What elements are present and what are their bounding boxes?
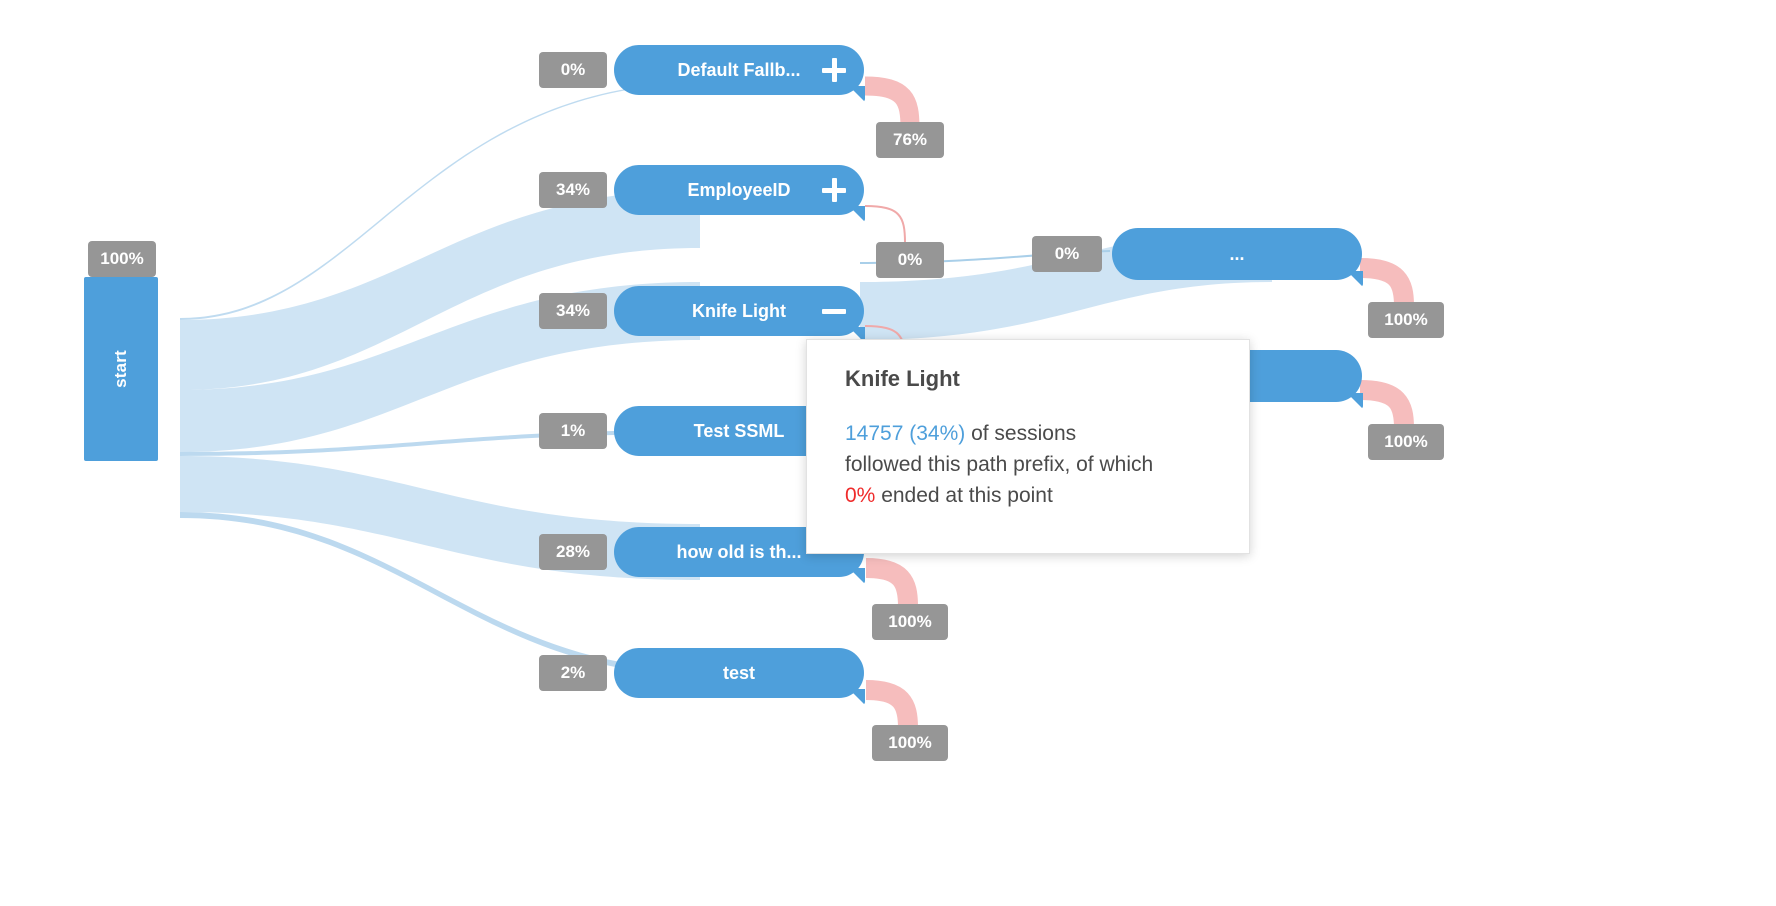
badge-test-dropoff: 100% xyxy=(872,725,948,761)
badge-start-percent: 100% xyxy=(88,241,156,277)
expand-plus-icon[interactable] xyxy=(822,178,846,202)
tooltip-session-count: 14757 (34%) xyxy=(845,422,965,445)
node-tooltip: Knife Light 14757 (34%) of sessions foll… xyxy=(806,339,1250,554)
dropoff-employeeid xyxy=(865,206,905,243)
badge-employeeid-dropoff: 0% xyxy=(876,242,944,278)
start-node-label: start xyxy=(111,350,131,388)
path-flow-canvas: start 100% Default Fallb... 0% 76% Emplo… xyxy=(0,0,1776,906)
dropoff-test xyxy=(866,690,908,728)
badge-how-old-dropoff: 100% xyxy=(872,604,948,640)
tooltip-line1-rest: of sessions xyxy=(965,422,1076,445)
badge-default-fallback-percent: 0% xyxy=(539,52,607,88)
tooltip-end-percent: 0% xyxy=(845,484,875,507)
tooltip-line3-rest: ended at this point xyxy=(875,484,1052,507)
node-more-label: ... xyxy=(1130,244,1344,265)
node-default-fallback[interactable]: Default Fallb... xyxy=(614,45,864,95)
node-default-fallback-label: Default Fallb... xyxy=(632,60,846,81)
node-employeeid-label: EmployeeID xyxy=(632,180,846,201)
dropoff-right-node-2 xyxy=(1360,390,1404,428)
node-knife-light-label: Knife Light xyxy=(632,301,846,322)
badge-knife-light-percent: 34% xyxy=(539,293,607,329)
dropoff-more xyxy=(1360,268,1404,306)
badge-default-fallback-dropoff: 76% xyxy=(876,122,944,158)
badge-test-ssml-percent: 1% xyxy=(539,413,607,449)
badge-test-percent: 2% xyxy=(539,655,607,691)
node-knife-light[interactable]: Knife Light xyxy=(614,286,864,336)
node-more[interactable]: ... xyxy=(1112,228,1362,280)
tooltip-title: Knife Light xyxy=(845,366,1215,392)
badge-more-percent: 0% xyxy=(1032,236,1102,272)
start-node[interactable]: start xyxy=(84,277,158,461)
node-employeeid[interactable]: EmployeeID xyxy=(614,165,864,215)
tooltip-line2: followed this path prefix, of which xyxy=(845,453,1153,476)
dropoff-how-old xyxy=(866,568,908,606)
badge-how-old-percent: 28% xyxy=(539,534,607,570)
collapse-minus-icon[interactable] xyxy=(822,299,846,323)
expand-plus-icon[interactable] xyxy=(822,58,846,82)
badge-employeeid-percent: 34% xyxy=(539,172,607,208)
node-test-label: test xyxy=(632,663,846,684)
badge-more-dropoff: 100% xyxy=(1368,302,1444,338)
node-test[interactable]: test xyxy=(614,648,864,698)
badge-right-2-dropoff: 100% xyxy=(1368,424,1444,460)
tooltip-body: 14757 (34%) of sessions followed this pa… xyxy=(845,418,1215,511)
